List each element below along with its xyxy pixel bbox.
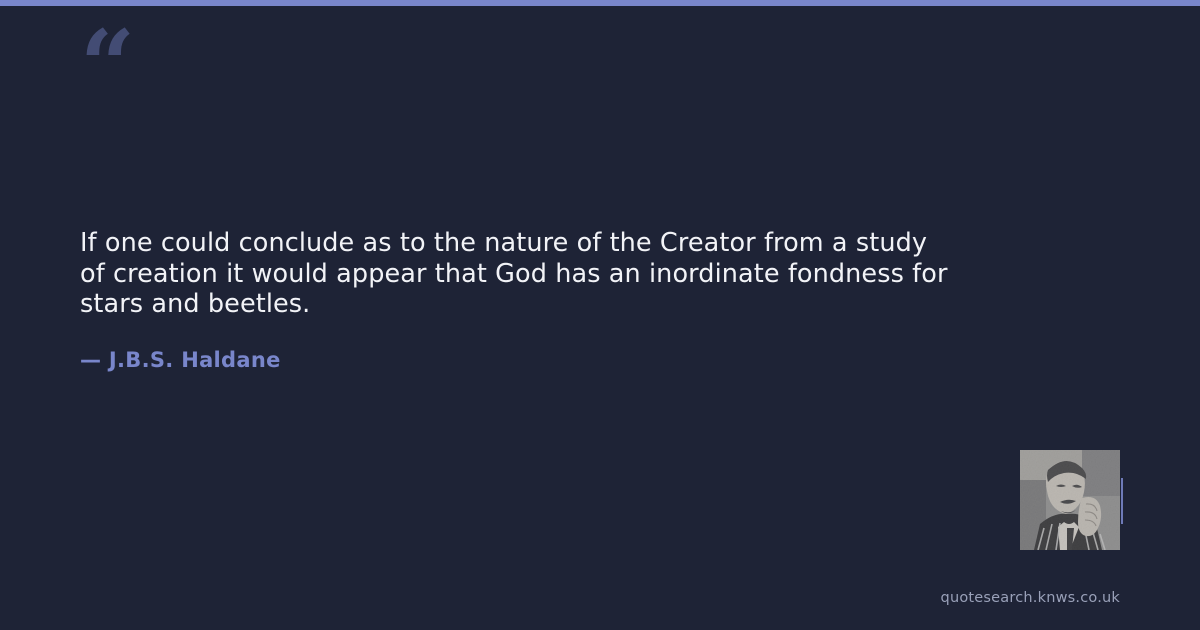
quote-line: If one could conclude as to the nature o… bbox=[80, 228, 1010, 259]
source-url: quotesearch.knws.co.uk bbox=[941, 590, 1120, 606]
quote-mark-icon: “ bbox=[80, 18, 133, 114]
author-portrait-image bbox=[1020, 450, 1120, 550]
quote-card: “ If one could conclude as to the nature… bbox=[0, 0, 1200, 630]
quote-line: stars and beetles. bbox=[80, 289, 1010, 320]
portrait-illustration bbox=[1020, 450, 1120, 550]
quote-attribution: — J.B.S. Haldane bbox=[80, 348, 281, 372]
top-accent-bar bbox=[0, 0, 1200, 6]
quote-line: of creation it would appear that God has… bbox=[80, 259, 1010, 290]
author-portrait bbox=[1020, 450, 1120, 550]
portrait-edge-accent bbox=[1121, 478, 1123, 524]
quote-block: If one could conclude as to the nature o… bbox=[80, 228, 1010, 320]
